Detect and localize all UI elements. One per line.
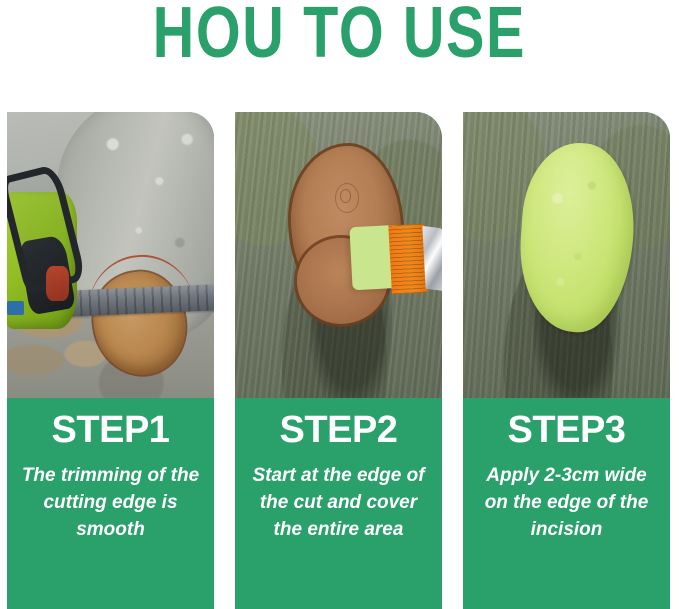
step-3-caption: STEP3 Apply 2-3cm wide on the edge of th…: [463, 398, 670, 609]
step-2-label: STEP2: [243, 408, 434, 452]
page-title-bar: HOU TO USE: [0, 0, 679, 92]
brush-bristles: [388, 223, 427, 293]
step-1-caption: STEP1 The trimming of the cutting edge i…: [7, 398, 214, 609]
chainsaw-label: [7, 301, 24, 315]
step-1-label: STEP1: [15, 408, 206, 452]
step-2-description: Start at the edge of the cut and cover t…: [243, 462, 434, 543]
brush-ferrule: [423, 225, 442, 291]
step-3-label: STEP3: [471, 408, 662, 452]
step-2-caption: STEP2 Start at the edge of the cut and c…: [235, 398, 442, 609]
step-3-description: Apply 2-3cm wide on the edge of the inci…: [471, 462, 662, 543]
step-3-photo: [463, 112, 670, 398]
step-card-2: STEP2 Start at the edge of the cut and c…: [235, 112, 442, 609]
paint-brush-icon: [388, 222, 442, 293]
page-title: HOU TO USE: [153, 0, 526, 64]
step-card-3: STEP3 Apply 2-3cm wide on the edge of th…: [463, 112, 670, 609]
step-1-description: The trimming of the cutting edge is smoo…: [15, 462, 206, 543]
steps-row: STEP1 The trimming of the cutting edge i…: [7, 112, 672, 609]
step-1-photo: [7, 112, 214, 398]
chainsaw-trigger: [46, 266, 69, 300]
how-to-use-infographic: HOU TO USE: [0, 0, 679, 609]
growth-rings-inner: [340, 189, 351, 202]
step-card-1: STEP1 The trimming of the cutting edge i…: [7, 112, 214, 609]
step-2-photo: [235, 112, 442, 398]
